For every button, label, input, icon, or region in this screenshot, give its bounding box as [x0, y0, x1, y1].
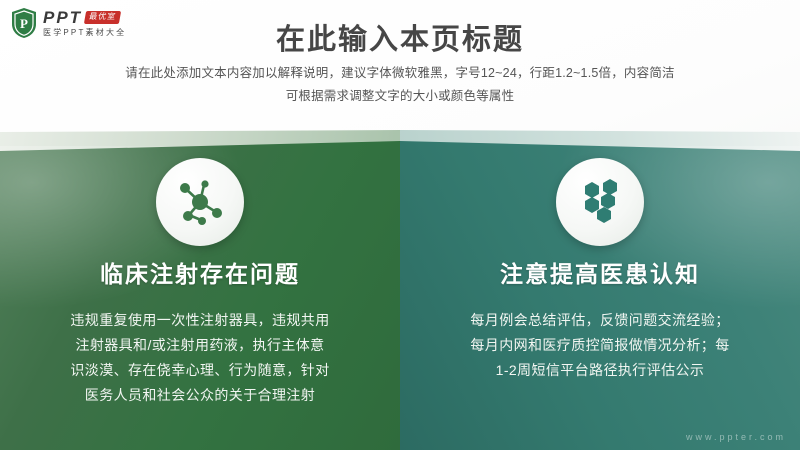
hexagon-cluster-icon[interactable] — [556, 158, 644, 246]
body-line: 注射器具和/或注射用药液，执行主体意 — [0, 333, 400, 358]
body-line: 医务人员和社会公众的关于合理注射 — [0, 383, 400, 408]
subtitle-line-1: 请在此处添加文本内容加以解释说明，建议字体微软雅黑，字号12~24，行距1.2~… — [0, 62, 800, 85]
footer-watermark: www.ppter.com — [686, 432, 786, 442]
body-line: 每月内网和医疗质控简报做情况分析；每 — [400, 333, 800, 358]
molecule-icon[interactable] — [156, 158, 244, 246]
page-title: 在此输入本页标题 — [0, 16, 800, 58]
panel-body: 每月例会总结评估，反馈问题交流经验； 每月内网和医疗质控简报做情况分析；每 1-… — [400, 308, 800, 383]
panel-body: 违规重复使用一次性注射器具，违规共用 注射器具和/或注射用药液，执行主体意 识淡… — [0, 308, 400, 408]
body-line: 违规重复使用一次性注射器具，违规共用 — [0, 308, 400, 333]
body-line: 1-2周短信平台路径执行评估公示 — [400, 358, 800, 383]
panel-heading: 临床注射存在问题 — [0, 255, 400, 289]
panel-heading: 注意提高医患认知 — [400, 255, 800, 289]
panel-patient-awareness[interactable]: 注意提高医患认知 每月例会总结评估，反馈问题交流经验； 每月内网和医疗质控简报做… — [400, 130, 800, 450]
slide-canvas: P PPT 最优室 医学PPT素材大全 在此输入本页标题 请在此处添加文本内容加… — [0, 0, 800, 450]
body-line: 识淡漠、存在侥幸心理、行为随意，针对 — [0, 358, 400, 383]
panel-group: 临床注射存在问题 违规重复使用一次性注射器具，违规共用 注射器具和/或注射用药液… — [0, 130, 800, 450]
subtitle-line-2: 可根据需求调整文字的大小或颜色等属性 — [0, 85, 800, 108]
page-subtitle: 请在此处添加文本内容加以解释说明，建议字体微软雅黑，字号12~24，行距1.2~… — [0, 62, 800, 108]
panel-clinical-injection-problems[interactable]: 临床注射存在问题 违规重复使用一次性注射器具，违规共用 注射器具和/或注射用药液… — [0, 130, 400, 450]
body-line: 每月例会总结评估，反馈问题交流经验； — [400, 308, 800, 333]
